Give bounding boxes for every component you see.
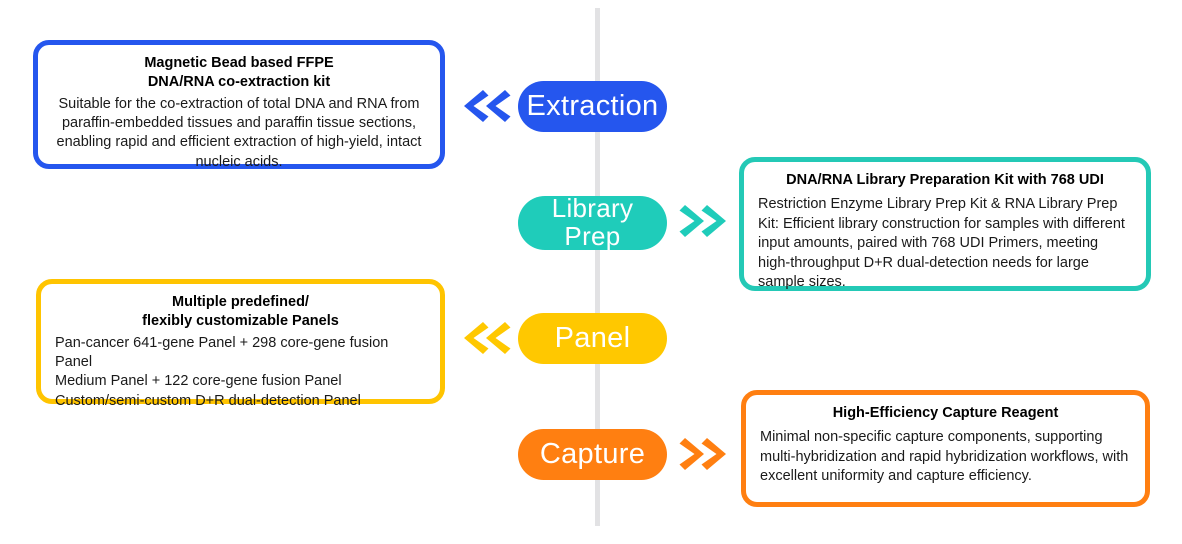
library-prep-badge-label: Library Prep	[552, 195, 634, 251]
stage-badge-capture[interactable]: Capture	[518, 429, 667, 480]
extraction-badge-label: Extraction	[527, 92, 659, 121]
double-chevron-right-icon	[679, 435, 729, 473]
double-chevron-left-icon	[461, 319, 511, 357]
panel-box-title: Multiple predefined/ flexibly customizab…	[55, 293, 426, 332]
capture-badge-label: Capture	[540, 440, 645, 469]
library-prep-box-body: Restriction Enzyme Library Prep Kit & RN…	[758, 195, 1132, 292]
capture-box-title: High-Efficiency Capture Reagent	[760, 404, 1131, 423]
extraction-info-box: Magnetic Bead based FFPE DNA/RNA co-extr…	[33, 40, 445, 169]
double-chevron-right-icon	[679, 202, 729, 240]
extraction-box-body: Suitable for the co-extraction of total …	[52, 95, 426, 173]
panel-box-body: Pan-cancer 641-gene Panel + 298 core-gen…	[55, 334, 426, 412]
double-chevron-left-icon	[461, 87, 511, 125]
capture-info-box: High-Efficiency Capture Reagent Minimal …	[741, 390, 1150, 507]
panel-badge-label: Panel	[555, 324, 631, 353]
stage-badge-panel[interactable]: Panel	[518, 313, 667, 364]
library-prep-box-title: DNA/RNA Library Preparation Kit with 768…	[758, 171, 1132, 190]
capture-box-body: Minimal non-specific capture components,…	[760, 428, 1131, 486]
library-prep-info-box: DNA/RNA Library Preparation Kit with 768…	[739, 157, 1151, 291]
extraction-box-title: Magnetic Bead based FFPE DNA/RNA co-extr…	[52, 54, 426, 93]
stage-badge-library-prep[interactable]: Library Prep	[518, 196, 667, 250]
stage-badge-extraction[interactable]: Extraction	[518, 81, 667, 132]
panel-info-box: Multiple predefined/ flexibly customizab…	[36, 279, 445, 404]
